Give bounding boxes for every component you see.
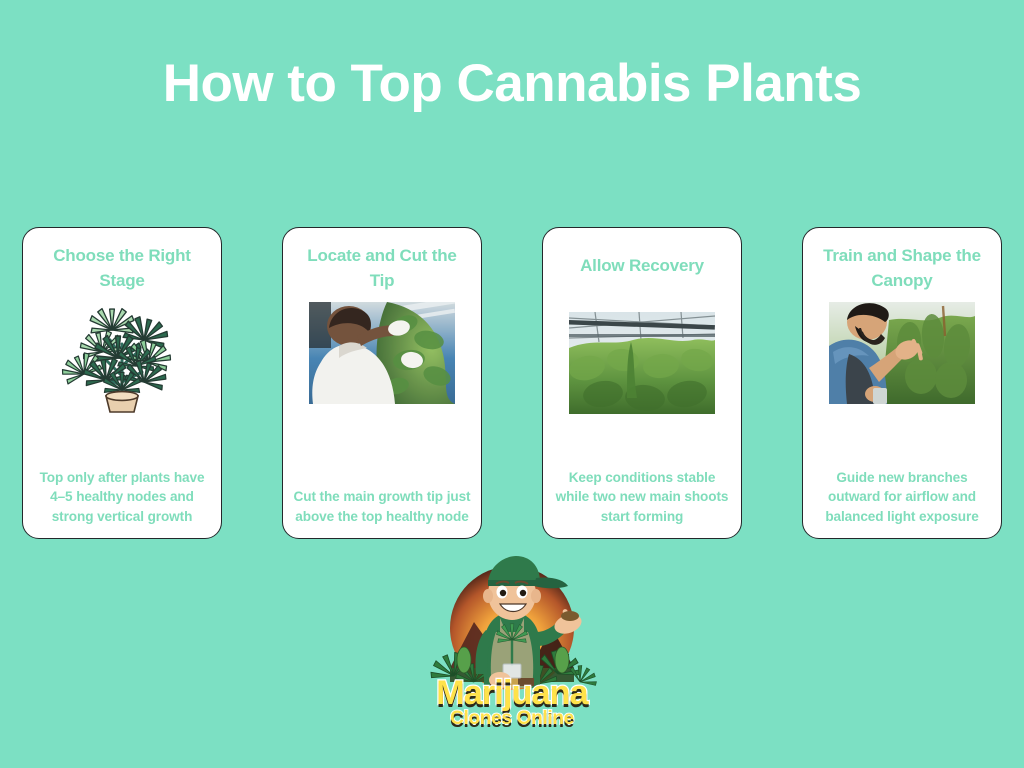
step-card-allow-recovery[interactable]: Allow Recovery <box>542 227 742 539</box>
card-caption: Keep conditions stable while two new mai… <box>553 468 731 526</box>
grower-inspecting-canopy-photo <box>829 302 975 404</box>
grower-pruning-plant-photo <box>309 302 455 404</box>
card-title: Choose the Right Stage <box>33 244 211 296</box>
card-title: Allow Recovery <box>553 244 731 306</box>
card-title: Train and Shape the Canopy <box>813 244 991 296</box>
steps-card-row: Choose the Right Stage <box>22 227 1002 539</box>
greenhouse-canopy-photo <box>569 312 715 414</box>
step-card-locate-and-cut-the-tip[interactable]: Locate and Cut the Tip <box>282 227 482 539</box>
logo-name-secondary: Clones Online <box>412 708 612 730</box>
card-media <box>569 312 715 414</box>
card-title: Locate and Cut the Tip <box>293 244 471 296</box>
card-caption: Top only after plants have 4–5 healthy n… <box>33 468 211 526</box>
step-card-train-and-shape-the-canopy[interactable]: Train and Shape the Canopy <box>802 227 1002 539</box>
card-media <box>52 296 192 414</box>
potted-cannabis-plant-illustration <box>52 296 192 414</box>
step-card-choose-the-right-stage[interactable]: Choose the Right Stage <box>22 227 222 539</box>
card-media <box>309 302 455 404</box>
brand-logo[interactable]: Marijuana Clones Online <box>412 556 612 736</box>
card-caption: Cut the main growth tip just above the t… <box>293 487 471 526</box>
page-title: How to Top Cannabis Plants <box>0 50 1024 118</box>
card-caption: Guide new branches outward for airflow a… <box>813 468 991 526</box>
card-media <box>829 302 975 404</box>
